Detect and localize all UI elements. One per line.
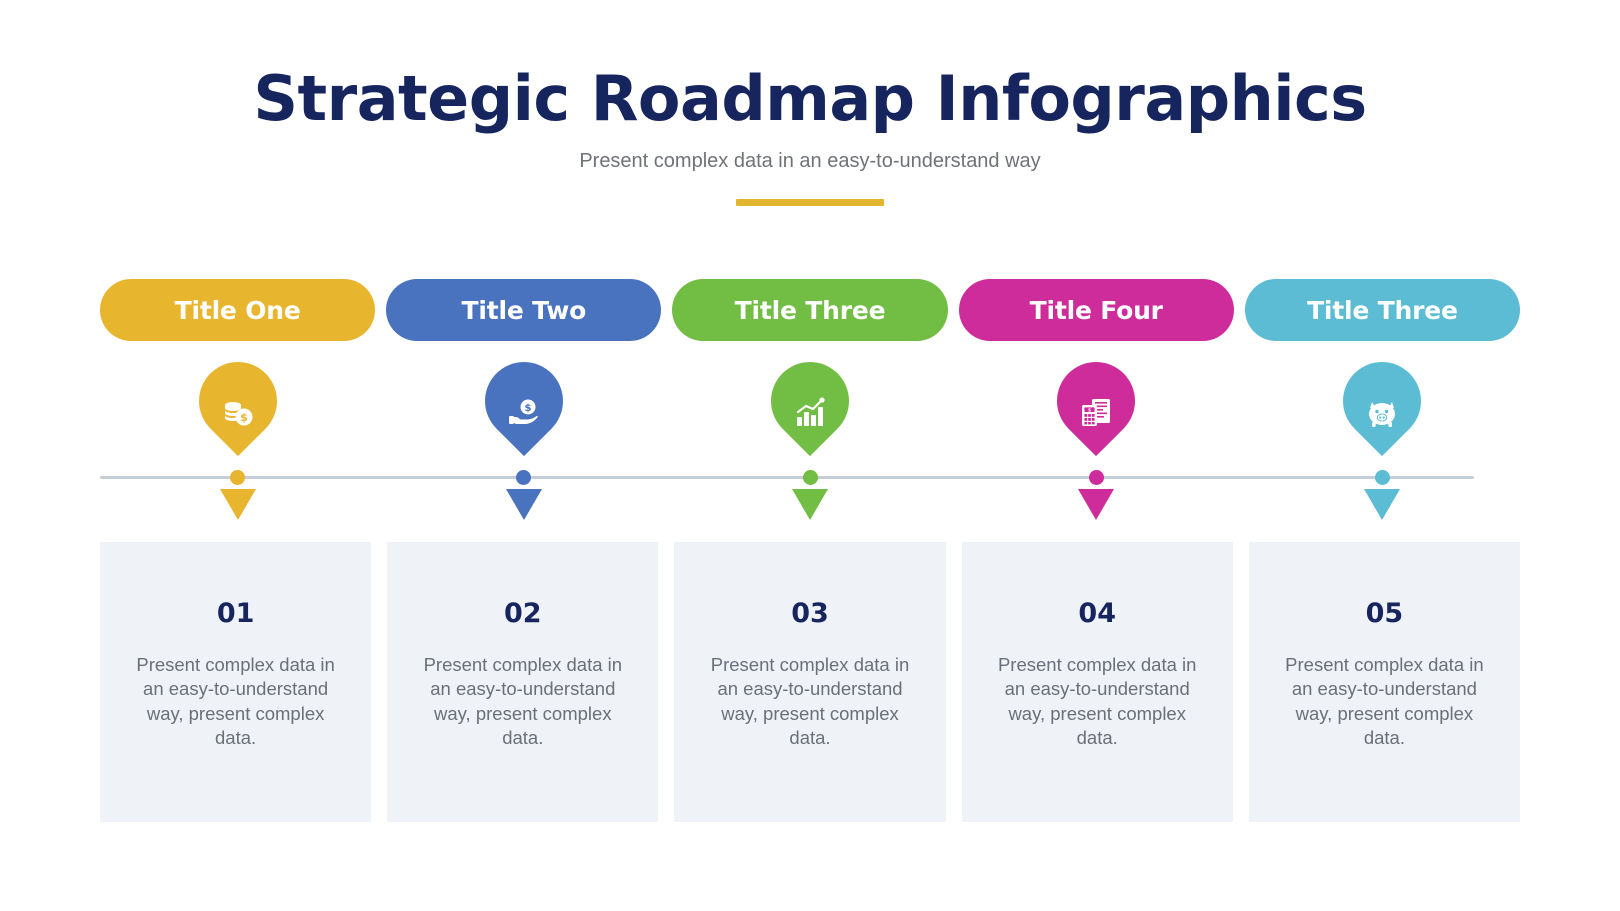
detail-card-4[interactable]: 04 Present complex data in an easy-to-un… [962,542,1233,822]
pointer-triangle-1 [220,489,256,520]
step-pill-5[interactable]: Title Three [1245,279,1520,341]
card-number-3: 03 [702,600,917,627]
svg-text:$: $ [524,403,531,414]
growth-bar-chart-icon [791,394,829,432]
piggy-bank-icon [1363,394,1401,432]
pointer-triangle-3 [792,489,828,520]
card-number-5: 05 [1277,600,1492,627]
marker-cell-5 [1245,362,1520,527]
step-pill-3[interactable]: Title Three [672,279,947,341]
card-text-1: Present complex data in an easy-to-under… [128,653,343,751]
calculator-invoice-icon: $ [1077,394,1115,432]
step-pill-label-5: Title Three [1307,296,1458,325]
detail-card-5[interactable]: 05 Present complex data in an easy-to-un… [1249,542,1520,822]
detail-card-3[interactable]: 03 Present complex data in an easy-to-un… [674,542,945,822]
card-text-4: Present complex data in an easy-to-under… [990,653,1205,751]
step-pill-1[interactable]: Title One [100,279,375,341]
detail-card-2[interactable]: 02 Present complex data in an easy-to-un… [387,542,658,822]
card-text-2: Present complex data in an easy-to-under… [415,653,630,751]
svg-text:$: $ [1088,407,1091,413]
timeline-dot-3 [803,470,818,485]
timeline-dot-1 [230,470,245,485]
hand-holding-coin-icon: $ [505,394,543,432]
marker-cell-1: $ [100,362,375,527]
card-number-1: 01 [128,600,343,627]
marker-row: $ $ [100,362,1520,527]
timeline-dot-4 [1089,470,1104,485]
step-pill-label-3: Title Three [735,296,886,325]
detail-card-row: 01 Present complex data in an easy-to-un… [100,542,1520,822]
step-pill-label-1: Title One [175,296,301,325]
detail-card-1[interactable]: 01 Present complex data in an easy-to-un… [100,542,371,822]
marker-cell-3 [672,362,947,527]
timeline-dot-5 [1375,470,1390,485]
coins-stack-icon: $ [219,394,257,432]
step-pill-label-2: Title Two [462,296,587,325]
roadmap-board: Title One Title Two Title Three Title Fo… [100,0,1520,911]
timeline-dot-2 [516,470,531,485]
step-pill-4[interactable]: Title Four [959,279,1234,341]
card-text-3: Present complex data in an easy-to-under… [702,653,917,751]
marker-cell-4: $ [959,362,1234,527]
pointer-triangle-2 [506,489,542,520]
pointer-triangle-5 [1364,489,1400,520]
card-text-5: Present complex data in an easy-to-under… [1277,653,1492,751]
step-pill-2[interactable]: Title Two [386,279,661,341]
pointer-triangle-4 [1078,489,1114,520]
step-pill-label-4: Title Four [1030,296,1163,325]
marker-cell-2: $ [386,362,661,527]
step-pill-row: Title One Title Two Title Three Title Fo… [100,279,1520,341]
card-number-4: 04 [990,600,1205,627]
card-number-2: 02 [415,600,630,627]
svg-text:$: $ [240,411,248,424]
timeline-rail [100,476,1474,479]
